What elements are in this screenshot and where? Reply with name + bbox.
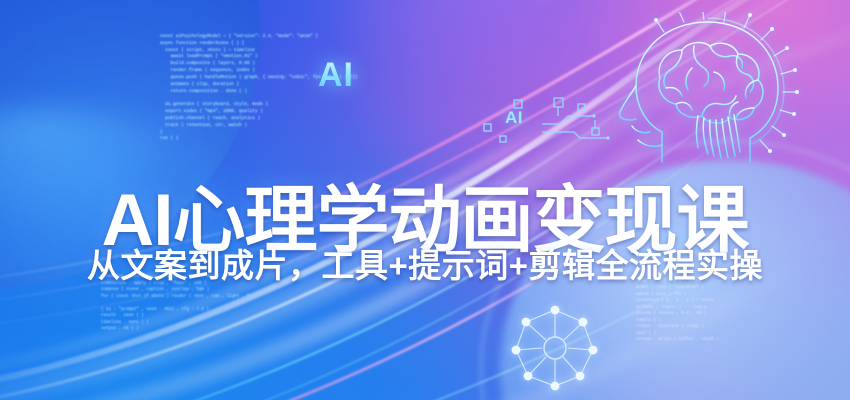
page-subtitle: 从文案到成片，工具+提示词+剪辑全流程实操: [0, 246, 850, 286]
course-banner: const aiPsychologyModel = { "version": 2…: [0, 0, 850, 400]
